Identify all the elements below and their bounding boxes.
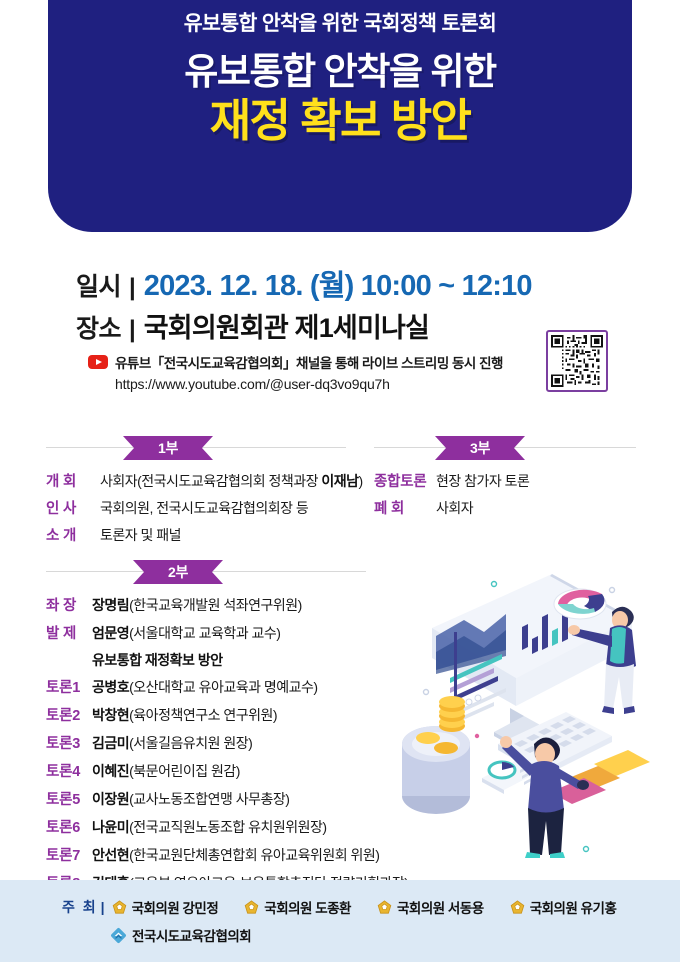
part3-row-discussion: 종합토론 현장 참가자 토론: [374, 470, 636, 491]
part1-label-open: 개 회: [46, 470, 100, 491]
part3-badge: 3부: [446, 436, 514, 460]
part1-text-open: 사회자(전국시도교육감협의회 정책과장 이재남): [100, 471, 363, 491]
part2-row-discussant-5: 토론5 이장원(교사노동조합연맹 사무총장): [46, 788, 366, 809]
part2-label-discussant-4: 토론4: [46, 760, 92, 781]
part1-row-open: 개 회 사회자(전국시도교육감협의회 정책과장 이재남): [46, 470, 346, 491]
event-info: 일시 | 2023. 12. 18. (월) 10:00 ~ 12:10 장소 …: [76, 262, 616, 347]
host-item: 국회의원 유기홍: [510, 897, 617, 917]
event-place-row: 장소 | 국회의원회관 제1세미나실: [76, 306, 616, 345]
part3-row-closing: 폐 회 사회자: [374, 497, 636, 518]
part2-label-discussant-5: 토론5: [46, 788, 92, 809]
event-poster: 유보통합 안착을 위한 국회정책 토론회 유보통합 안착을 위한 재정 확보 방…: [0, 0, 680, 962]
section-part3: 3부 종합토론 현장 참가자 토론 폐 회 사회자: [374, 436, 636, 524]
part2-text-discussant-5: 이장원(교사노동조합연맹 사무총장): [92, 789, 289, 809]
banner-title-line1: 유보통합 안착을 위한: [48, 51, 632, 92]
part2-row-discussant-4: 토론4 이혜진(북문어린이집 원감): [46, 760, 366, 781]
event-date-value: 2023. 12. 18. (월) 10:00 ~ 12:10: [144, 262, 532, 304]
section-part1: 1부 개 회 사회자(전국시도교육감협의회 정책과장 이재남) 인 사 국회의원…: [46, 436, 346, 551]
date-separator: |: [129, 274, 136, 302]
section-part2: 2부 좌 장 장명림(한국교육개발원 석좌연구위원) 발 제 엄문영(서울대학교…: [46, 560, 366, 900]
live-stream-info: 유튜브「전국시도교육감협의회」채널을 통해 라이브 스트리밍 동시 진행 htt…: [88, 352, 568, 392]
part1-text-intro: 토론자 및 패널: [100, 525, 181, 545]
host-name: 국회의원 서동용: [397, 897, 484, 917]
event-place-label: 장소: [76, 309, 121, 345]
part2-text-discussant-2: 박창현(육아정책연구소 연구위원): [92, 705, 277, 725]
part2-label-discussant-1: 토론1: [46, 676, 92, 697]
isometric-data-analytics-illustration: [398, 566, 670, 858]
host-item: 국회의원 서동용: [377, 897, 484, 917]
part2-badge-wrap: 2부: [46, 560, 366, 584]
part2-presentation-title: 유보통합 재정확보 방안: [92, 650, 366, 670]
part2-row-discussant-3: 토론3 김금미(서울길음유치원 원장): [46, 732, 366, 753]
council-emblem: [110, 927, 127, 944]
event-date-label: 일시: [76, 267, 121, 303]
part3-text-discussion: 현장 참가자 토론: [436, 471, 529, 491]
part3-badge-wrap: 3부: [374, 436, 636, 460]
part2-text-presenter: 엄문영(서울대학교 교육학과 교수): [92, 623, 280, 643]
stream-channel-line: 유튜브「전국시도교육감협의회」채널을 통해 라이브 스트리밍 동시 진행: [88, 352, 568, 372]
banner-kicker: 유보통합 안착을 위한 국회정책 토론회: [48, 12, 632, 37]
place-separator: |: [129, 316, 136, 344]
part1-row-intro: 소 개 토론자 및 패널: [46, 524, 346, 545]
part2-text-discussant-7: 안선현(한국교원단체총연합회 유아교육위원회 위원): [92, 845, 379, 865]
part2-label-discussant-3: 토론3: [46, 732, 92, 753]
part2-row-chair: 좌 장 장명림(한국교육개발원 석좌연구위원): [46, 594, 366, 615]
host-name: 국회의원 유기홍: [530, 897, 617, 917]
national-assembly-emblem: [377, 900, 392, 915]
host-name: 국회의원 강민정: [132, 897, 219, 917]
national-assembly-emblem: [244, 900, 259, 915]
part3-label-discussion: 종합토론: [374, 470, 436, 491]
part2-label-discussant-6: 토론6: [46, 816, 92, 837]
part2-row-discussant-7: 토론7 안선현(한국교원단체총연합회 유아교육위원회 위원): [46, 844, 366, 865]
council-line: 전국시도교육감협의회: [0, 925, 680, 945]
part1-label-intro: 소 개: [46, 524, 100, 545]
qr-code[interactable]: [546, 330, 608, 392]
part2-label-discussant-7: 토론7: [46, 844, 92, 865]
part2-row-discussant-2: 토론2 박창현(육아정책연구소 연구위원): [46, 704, 366, 725]
host-name: 국회의원 도종환: [264, 897, 351, 917]
part2-text-discussant-1: 공병호(오산대학교 유아교육과 명예교수): [92, 677, 318, 697]
part2-badge: 2부: [144, 560, 212, 584]
stream-text: 유튜브「전국시도교육감협의회」채널을 통해 라이브 스트리밍 동시 진행: [115, 352, 503, 372]
national-assembly-emblem: [112, 900, 127, 915]
stream-url[interactable]: https://www.youtube.com/@user-dq3vo9qu7h: [115, 376, 568, 392]
national-assembly-emblem: [510, 900, 525, 915]
host-label: 주 최: [62, 897, 98, 917]
header-banner: 유보통합 안착을 위한 국회정책 토론회 유보통합 안착을 위한 재정 확보 방…: [48, 0, 632, 232]
footer-hosts: 주 최 | 국회의원 강민정 국회의원 도종환: [0, 880, 680, 962]
part2-label-chair: 좌 장: [46, 594, 92, 615]
part1-label-greeting: 인 사: [46, 497, 100, 518]
part2-text-chair: 장명림(한국교육개발원 석좌연구위원): [92, 595, 302, 615]
part1-badge-wrap: 1부: [46, 436, 346, 460]
host-item: 국회의원 도종환: [244, 897, 351, 917]
part2-label-discussant-2: 토론2: [46, 704, 92, 725]
event-date-row: 일시 | 2023. 12. 18. (월) 10:00 ~ 12:10: [76, 262, 616, 304]
part2-label-presenter: 발 제: [46, 622, 92, 643]
part1-row-greeting: 인 사 국회의원, 전국시도교육감협의회장 등: [46, 497, 346, 518]
part2-text-discussant-3: 김금미(서울길음유치원 원장): [92, 733, 252, 753]
council-name: 전국시도교육감협의회: [132, 925, 251, 945]
part1-text-greeting: 국회의원, 전국시도교육감협의회장 등: [100, 498, 308, 518]
event-place-value: 국회의원회관 제1세미나실: [144, 306, 429, 345]
host-item: 국회의원 강민정: [112, 897, 219, 917]
part2-text-discussant-6: 나윤미(전국교직원노동조합 유치원위원장): [92, 817, 327, 837]
part1-badge: 1부: [134, 436, 202, 460]
part2-row-discussant-6: 토론6 나윤미(전국교직원노동조합 유치원위원장): [46, 816, 366, 837]
banner-title-line2: 재정 확보 방안: [48, 96, 632, 146]
part2-row-discussant-1: 토론1 공병호(오산대학교 유아교육과 명예교수): [46, 676, 366, 697]
part3-label-closing: 폐 회: [374, 497, 436, 518]
youtube-icon: [88, 355, 108, 369]
part2-row-presenter: 발 제 엄문영(서울대학교 교육학과 교수): [46, 622, 366, 643]
part3-text-closing: 사회자: [436, 498, 473, 518]
host-line: 주 최 | 국회의원 강민정 국회의원 도종환: [0, 897, 680, 917]
host-separator: |: [101, 899, 105, 915]
part2-text-discussant-4: 이혜진(북문어린이집 원감): [92, 761, 240, 781]
